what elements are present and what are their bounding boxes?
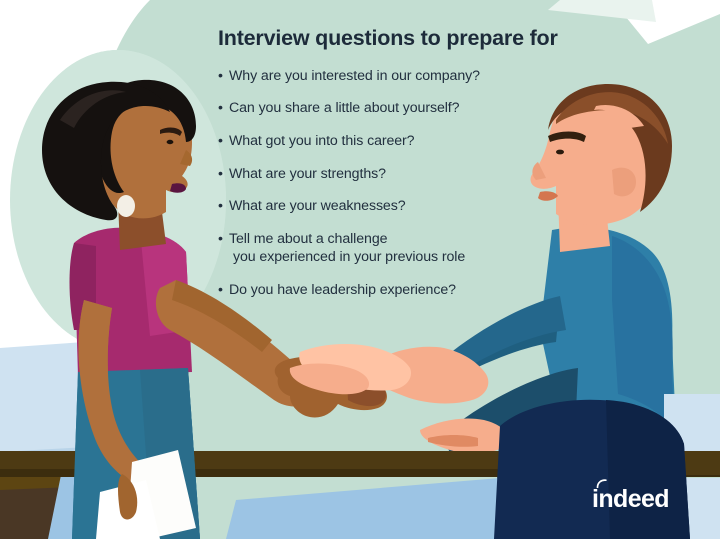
woman-earring bbox=[117, 195, 135, 217]
illustration-canvas: Interview questions to prepare for • Why… bbox=[0, 0, 720, 539]
bullet-icon: • bbox=[218, 67, 223, 85]
page-title: Interview questions to prepare for bbox=[218, 26, 578, 51]
list-item: • Why are you interested in our company? bbox=[218, 67, 578, 85]
list-item: • What are your weaknesses? bbox=[218, 197, 578, 215]
dot-arc-icon bbox=[596, 479, 611, 488]
bullet-icon: • bbox=[218, 197, 223, 215]
list-item: • What are your strengths? bbox=[218, 165, 578, 183]
text-panel: Interview questions to prepare for • Why… bbox=[218, 26, 578, 314]
list-item-label: Tell me about a challenge bbox=[229, 231, 387, 247]
list-item: • Can you share a little about yourself? bbox=[218, 99, 578, 117]
woman-eye bbox=[167, 140, 174, 144]
bullet-icon: • bbox=[218, 281, 223, 299]
indeed-logo: indeed bbox=[592, 487, 669, 512]
bullet-icon: • bbox=[218, 230, 223, 248]
list-item-label: Do you have leadership experience? bbox=[229, 282, 456, 298]
list-item: • Do you have leadership experience? bbox=[218, 281, 578, 299]
list-item: • Tell me about a challenge you experien… bbox=[218, 230, 578, 266]
bullet-icon: • bbox=[218, 99, 223, 117]
interview-questions-list: • Why are you interested in our company?… bbox=[218, 67, 578, 299]
list-item: • What got you into this career? bbox=[218, 132, 578, 150]
list-item-label: What got you into this career? bbox=[229, 133, 414, 149]
woman-lips bbox=[170, 183, 186, 193]
indeed-wordmark: indeed bbox=[592, 487, 669, 512]
list-item-label: Why are you interested in our company? bbox=[229, 68, 480, 84]
list-item-label: Can you share a little about yourself? bbox=[229, 100, 459, 116]
bullet-icon: • bbox=[218, 165, 223, 183]
bullet-icon: • bbox=[218, 132, 223, 150]
list-item-label: What are your weaknesses? bbox=[229, 198, 406, 214]
list-item-label: What are your strengths? bbox=[229, 166, 386, 182]
list-item-label-line2: you experienced in your previous role bbox=[229, 248, 578, 266]
